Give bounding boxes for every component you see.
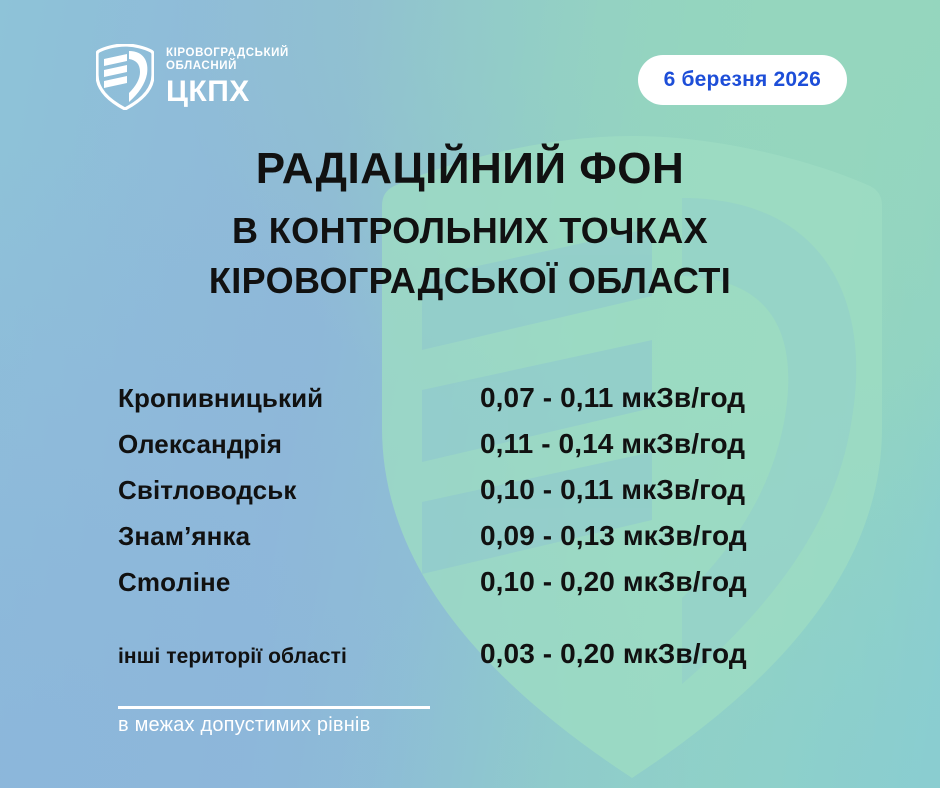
- table-row: Олександрія 0,11 - 0,14 мкЗв/год: [118, 428, 878, 474]
- brand-line-2: ОБЛАСНИЙ: [166, 60, 289, 74]
- location-name: Олександрія: [118, 429, 480, 460]
- footer-note: в межах допустимих рівнів: [118, 714, 370, 737]
- location-value: 0,07 - 0,11 мкЗв/год: [480, 382, 745, 414]
- location-value: 0,10 - 0,11 мкЗв/год: [480, 474, 745, 506]
- radiation-background-poster: КІРОВОГРАДСЬКИЙ ОБЛАСНИЙ ЦКПХ 6 березня …: [0, 0, 940, 788]
- shield-logo-icon: [96, 44, 154, 110]
- brand-text: КІРОВОГРАДСЬКИЙ ОБЛАСНИЙ ЦКПХ: [166, 47, 289, 108]
- table-row: Знам’янка 0,09 - 0,13 мкЗв/год: [118, 520, 878, 566]
- page-title: РАДІАЦІЙНИЙ ФОН В КОНТРОЛЬНИХ ТОЧКАХ КІР…: [0, 142, 940, 306]
- other-territories-value: 0,03 - 0,20 мкЗв/год: [480, 638, 747, 670]
- brand-abbreviation: ЦКПХ: [166, 76, 289, 108]
- footer-divider: [118, 706, 430, 709]
- table-row: Кропивницький 0,07 - 0,11 мкЗв/год: [118, 382, 878, 428]
- title-line-1: РАДІАЦІЙНИЙ ФОН: [0, 142, 940, 196]
- title-line-2: В КОНТРОЛЬНИХ ТОЧКАХ: [0, 206, 940, 256]
- other-territories-label: інші території області: [118, 645, 480, 669]
- title-line-3: КІРОВОГРАДСЬКОЇ ОБЛАСТІ: [0, 256, 940, 306]
- location-name: Світловодськ: [118, 475, 480, 506]
- location-value: 0,10 - 0,20 мкЗв/год: [480, 566, 747, 598]
- location-name: Кропивницький: [118, 383, 480, 414]
- location-name: Сmoліне: [118, 567, 480, 598]
- location-value: 0,09 - 0,13 мкЗв/год: [480, 520, 747, 552]
- measurements-list: Кропивницький 0,07 - 0,11 мкЗв/год Олекс…: [118, 382, 878, 612]
- location-value: 0,11 - 0,14 мкЗв/год: [480, 428, 745, 460]
- poster-header: КІРОВОГРАДСЬКИЙ ОБЛАСНИЙ ЦКПХ 6 березня …: [0, 0, 940, 140]
- table-row: Сmoліне 0,10 - 0,20 мкЗв/год: [118, 566, 878, 612]
- location-name: Знам’янка: [118, 521, 480, 552]
- table-row: Світловодськ 0,10 - 0,11 мкЗв/год: [118, 474, 878, 520]
- date-badge-label: 6 березня 2026: [664, 68, 821, 92]
- date-badge: 6 березня 2026: [638, 55, 847, 105]
- table-row-other-territories: інші території області 0,03 - 0,20 мкЗв/…: [118, 638, 878, 670]
- brand-line-1: КІРОВОГРАДСЬКИЙ: [166, 47, 289, 61]
- brand-logo: КІРОВОГРАДСЬКИЙ ОБЛАСНИЙ ЦКПХ: [96, 44, 289, 110]
